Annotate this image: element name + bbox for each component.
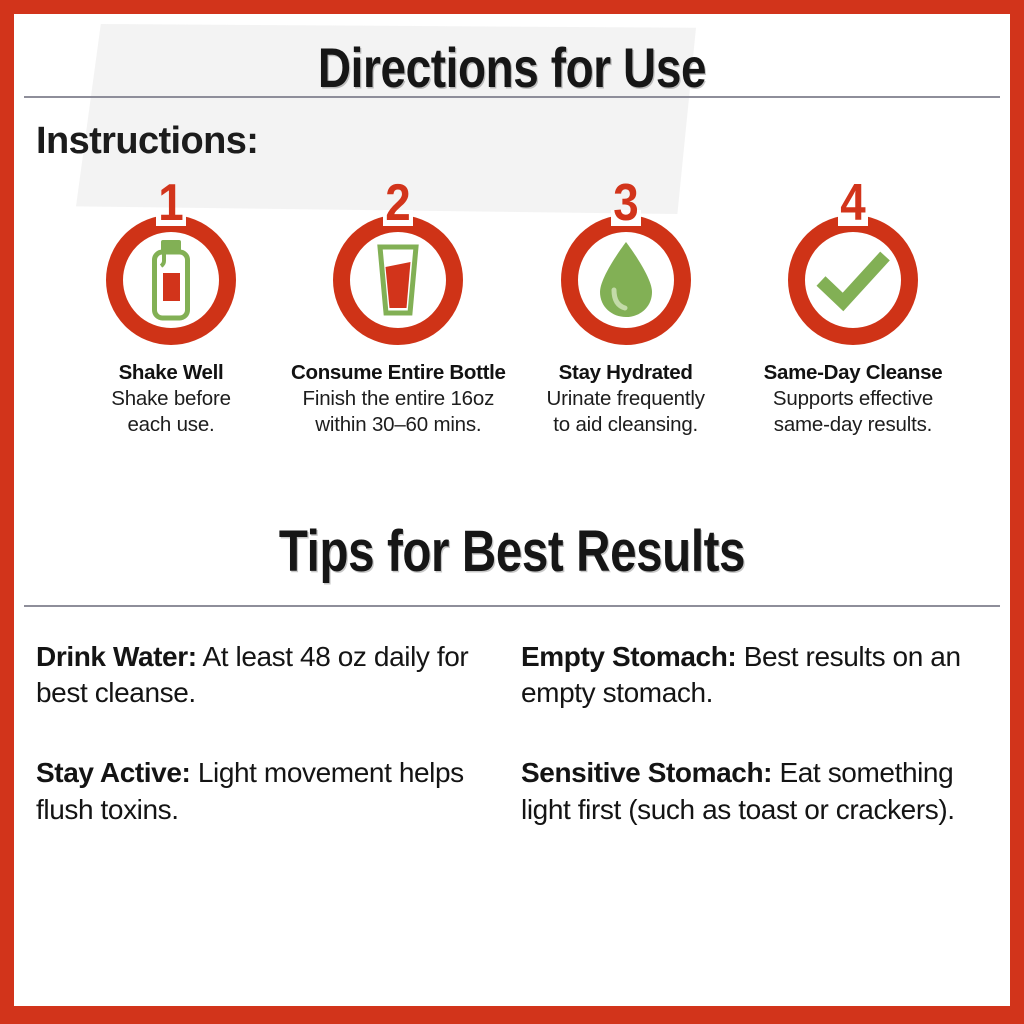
tip-item: Drink Water: At least 48 oz daily for be…	[36, 639, 503, 712]
step-desc-line2: within 30–60 mins.	[287, 413, 509, 437]
step-desc-line1: Shake before	[60, 387, 282, 411]
tip-item: Empty Stomach: Best results on an empty …	[521, 639, 988, 712]
step-desc-line2: same-day results.	[742, 413, 964, 437]
checkmark-icon	[788, 215, 918, 345]
step-label: Stay Hydrated	[515, 361, 737, 385]
poster-inner: Directions for Use Instructions: 1	[14, 14, 1010, 1006]
step-number: 1	[73, 177, 268, 229]
tip-title: Stay Active:	[36, 757, 190, 788]
bottle-icon	[106, 215, 236, 345]
water-drop-icon	[561, 215, 691, 345]
section-spacer	[14, 437, 1010, 523]
step-item: 2 Consume Entire Bottle Finish the entir…	[287, 177, 509, 437]
step-desc-line2: each use.	[60, 413, 282, 437]
steps-row: 1 Shake Well Shake before each use.	[14, 163, 1010, 437]
step-item: 1 Shake Well Shake before each use.	[60, 177, 282, 437]
instructions-heading: Instructions:	[14, 98, 1010, 163]
step-label: Consume Entire Bottle	[287, 361, 509, 385]
step-number: 4	[755, 177, 950, 229]
step-icon-wrap: 1	[60, 177, 282, 357]
step-label: Same-Day Cleanse	[742, 361, 964, 385]
step-desc-line1: Supports effective	[742, 387, 964, 411]
tip-item: Stay Active: Light movement helps flush …	[36, 755, 503, 828]
step-item: 4 Same-Day Cleanse Supports effective sa…	[742, 177, 964, 437]
step-desc-line1: Finish the entire 16oz	[287, 387, 509, 411]
step-label: Shake Well	[60, 361, 282, 385]
step-icon-wrap: 4	[742, 177, 964, 357]
step-item: 3 Stay Hydrated Urinate frequently to ai…	[515, 177, 737, 437]
step-icon-wrap: 3	[515, 177, 737, 357]
glass-icon	[333, 215, 463, 345]
tips-grid: Drink Water: At least 48 oz daily for be…	[14, 607, 1010, 829]
directions-for-use-poster: Directions for Use Instructions: 1	[0, 0, 1024, 1024]
tip-item: Sensitive Stomach: Eat something light f…	[521, 755, 988, 828]
step-icon-wrap: 2	[287, 177, 509, 357]
step-desc-line1: Urinate frequently	[515, 387, 737, 411]
step-number: 3	[528, 177, 723, 229]
tips-title-spacer	[14, 581, 1010, 605]
step-number: 2	[301, 177, 496, 229]
tip-title: Empty Stomach:	[521, 641, 736, 672]
tips-title: Tips for Best Results	[104, 523, 921, 581]
tip-title: Drink Water:	[36, 641, 197, 672]
page-title: Directions for Use	[104, 14, 921, 96]
tip-title: Sensitive Stomach:	[521, 757, 772, 788]
step-desc-line2: to aid cleansing.	[515, 413, 737, 437]
